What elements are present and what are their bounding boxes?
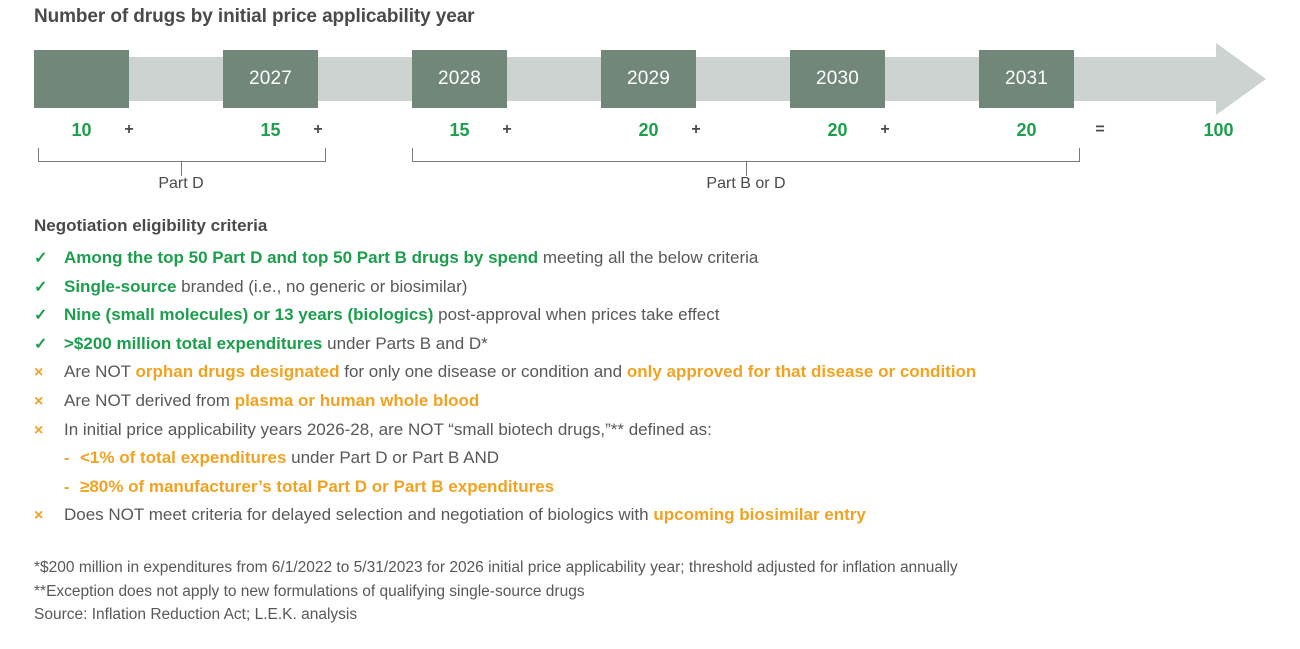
year-box-2029: 2029: [601, 50, 696, 108]
criteria-sub-item: -<1% of total expenditures under Part D …: [34, 444, 1274, 473]
criteria-text-segment: post-approval when prices take effect: [433, 305, 719, 324]
year-box-2030: 2030: [790, 50, 885, 108]
bracket-label-part-b-or-d: Part B or D: [646, 175, 846, 193]
criteria-item-text: Among the top 50 Part D and top 50 Part …: [64, 244, 758, 273]
timeline-arrow: 2026 2027 2028 2029 2030 2031: [34, 50, 1266, 108]
criteria-item: ✓Among the top 50 Part D and top 50 Part…: [34, 244, 1274, 273]
criteria-item: ✓Single-source branded (i.e., no generic…: [34, 273, 1274, 302]
counts-row: 10 + 15 + 15 + 20 + 20 + 20 = 100: [34, 120, 1266, 148]
criteria-text-segment: Are NOT: [64, 362, 135, 381]
footnote-2: **Exception does not apply to new formul…: [34, 580, 958, 604]
criteria-item-text: Nine (small molecules) or 13 years (biol…: [64, 301, 719, 330]
criteria-text-segment: for only one disease or condition and: [340, 362, 627, 381]
year-box-2028: 2028: [412, 50, 507, 108]
criteria-text-segment: Are NOT derived from: [64, 391, 235, 410]
criteria-item: ×In initial price applicability years 20…: [34, 416, 1274, 445]
footnotes: *$200 million in expenditures from 6/1/2…: [34, 556, 958, 627]
criteria-text-segment: meeting all the below criteria: [538, 248, 758, 267]
criteria-text-segment: Does NOT meet criteria for delayed selec…: [64, 505, 653, 524]
criteria-item-text: >$200 million total expenditures under P…: [64, 330, 488, 359]
bracket-part-d-stem: [181, 162, 182, 176]
footnote-source: Source: Inflation Reduction Act; L.E.K. …: [34, 603, 958, 627]
criteria-item-text: Does NOT meet criteria for delayed selec…: [64, 501, 866, 530]
criteria-sub-item: -≥80% of manufacturer’s total Part D or …: [34, 473, 1274, 502]
operator-4: +: [676, 121, 716, 139]
cross-icon: ×: [34, 502, 64, 531]
count-2031: 20: [979, 120, 1074, 141]
check-icon: ✓: [34, 302, 64, 331]
criteria-item: ✓Nine (small molecules) or 13 years (bio…: [34, 301, 1274, 330]
page-title: Number of drugs by initial price applica…: [34, 6, 474, 28]
footnote-1: *$200 million in expenditures from 6/1/2…: [34, 556, 958, 580]
criteria-text-segment: only approved for that disease or condit…: [627, 362, 977, 381]
dash-bullet: -: [64, 445, 80, 474]
year-box-2027: 2027: [223, 50, 318, 108]
criteria-item-text: Are NOT orphan drugs designated for only…: [64, 358, 976, 387]
criteria-item-text: Are NOT derived from plasma or human who…: [64, 387, 479, 416]
criteria-list: ✓Among the top 50 Part D and top 50 Part…: [34, 244, 1274, 530]
criteria-item: ×Are NOT orphan drugs designated for onl…: [34, 358, 1274, 387]
equals-operator: =: [1080, 121, 1120, 139]
bracket-part-b-or-d-stem: [746, 162, 747, 176]
criteria-text-segment: Nine (small molecules) or 13 years (biol…: [64, 305, 433, 324]
criteria-text-segment: branded (i.e., no generic or biosimilar): [176, 277, 467, 296]
check-icon: ✓: [34, 274, 64, 303]
criteria-text-segment: Single-source: [64, 277, 176, 296]
bracket-part-d: [38, 148, 326, 162]
criteria-item: ×Does NOT meet criteria for delayed sele…: [34, 501, 1274, 530]
criteria-item-text: ≥80% of manufacturer’s total Part D or P…: [80, 473, 554, 502]
criteria-text-segment: >$200 million total expenditures: [64, 334, 322, 353]
criteria-text-segment: plasma or human whole blood: [235, 391, 480, 410]
bracket-label-part-d: Part D: [81, 175, 281, 193]
cross-icon: ×: [34, 359, 64, 388]
check-icon: ✓: [34, 331, 64, 360]
operator-1: +: [109, 121, 149, 139]
operator-2: +: [298, 121, 338, 139]
criteria-text-segment: <1% of total expenditures: [80, 448, 286, 467]
year-box-2028-placeholder: [34, 50, 129, 108]
cross-icon: ×: [34, 388, 64, 417]
bracket-part-b-or-d: [412, 148, 1080, 162]
criteria-text-segment: upcoming biosimilar entry: [653, 505, 866, 524]
criteria-item: ×Are NOT derived from plasma or human wh…: [34, 387, 1274, 416]
check-icon: ✓: [34, 245, 64, 274]
dash-bullet: -: [64, 474, 80, 503]
criteria-item-text: In initial price applicability years 202…: [64, 416, 712, 445]
criteria-text-segment: In initial price applicability years 202…: [64, 420, 712, 439]
criteria-text-segment: under Parts B and D*: [322, 334, 487, 353]
criteria-heading: Negotiation eligibility criteria: [34, 216, 267, 236]
criteria-item-text: Single-source branded (i.e., no generic …: [64, 273, 467, 302]
criteria-item-text: <1% of total expenditures under Part D o…: [80, 444, 499, 473]
arrow-head-icon: [1216, 43, 1266, 115]
criteria-text-segment: Among the top 50 Part D and top 50 Part …: [64, 248, 538, 267]
operator-5: +: [865, 121, 905, 139]
criteria-text-segment: orphan drugs designated: [135, 362, 339, 381]
criteria-text-segment: under Part D or Part B AND: [286, 448, 499, 467]
criteria-text-segment: ≥80% of manufacturer’s total Part D or P…: [80, 477, 554, 496]
year-box-2031: 2031: [979, 50, 1074, 108]
criteria-item: ✓>$200 million total expenditures under …: [34, 330, 1274, 359]
cross-icon: ×: [34, 417, 64, 446]
total-count: 100: [1171, 120, 1266, 141]
operator-3: +: [487, 121, 527, 139]
